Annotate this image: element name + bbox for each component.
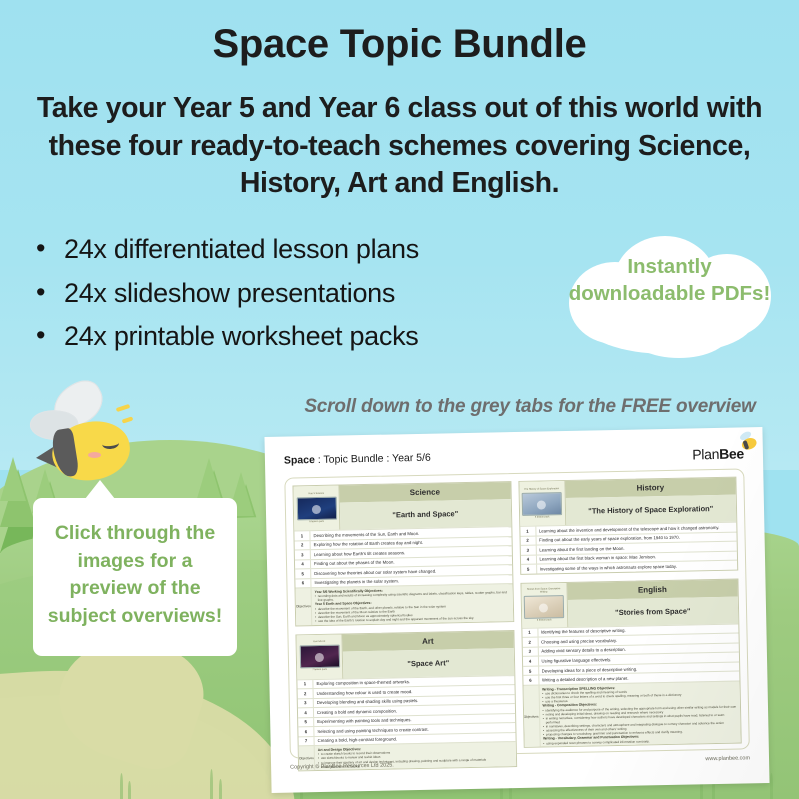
cloud-puff-icon: [627, 304, 731, 358]
document-column-right: The History of Space Exploration5 lesson…: [518, 477, 742, 746]
list-item: 24x differentiated lesson plans: [30, 228, 550, 272]
subject-thumbnail[interactable]: The History of Space Exploration5 lesson…: [519, 481, 566, 526]
lesson-title: Using figurative language effectively.: [538, 655, 614, 665]
thumbnail-caption-bottom: 7 lesson pack: [312, 669, 327, 672]
thumbnail-caption-top: Year 5/6 Art: [313, 641, 325, 644]
lesson-number: 1: [522, 628, 538, 637]
subject-thumbnail[interactable]: Year 5/6 Art7 lesson pack: [296, 634, 343, 679]
lesson-number: 3: [522, 647, 538, 656]
subject-card-science[interactable]: Year 5 Science6 lesson packScience"Earth…: [292, 481, 513, 626]
brand-bold: Bee: [719, 445, 744, 461]
thumbnail-image: [522, 492, 562, 516]
objectives-label: Objectives: [296, 588, 313, 625]
subject-heading-block: History"The History of Space Exploration…: [565, 478, 736, 525]
objectives-block: ObjectivesYear 5/6 Working Scientificall…: [296, 583, 513, 625]
unit-name: "Earth and Space": [340, 499, 511, 529]
lesson-number: 4: [298, 708, 314, 717]
thumbnail-image: [296, 496, 336, 520]
document-title-rest: : Topic Bundle : Year 5/6: [315, 452, 431, 466]
subject-card-header: The History of Space Exploration5 lesson…: [519, 478, 736, 526]
subject-heading-block: Science"Earth and Space": [339, 482, 510, 529]
subject-card-header: Year 5 Science6 lesson packScience"Earth…: [293, 482, 510, 530]
overview-document-preview[interactable]: Space : Topic Bundle : Year 5/6 PlanBee …: [264, 427, 769, 793]
thumbnail-caption-top: Stories from Space: Descriptive Writing: [523, 588, 564, 594]
lesson-number: 1: [520, 527, 536, 536]
subject-card-history[interactable]: The History of Space Exploration5 lesson…: [518, 477, 738, 575]
unit-name: "Stories from Space": [567, 596, 738, 626]
objectives-content: Writing - Transcription SPELLING Objecti…: [539, 682, 741, 747]
thumbnail-caption-bottom: 6 lesson pack: [537, 619, 552, 622]
brand-light: Plan: [692, 446, 719, 463]
subject-card-art[interactable]: Year 5/6 Art7 lesson packArt"Space Art"1…: [295, 630, 516, 772]
lesson-number: 2: [295, 541, 311, 550]
callout-label: Click through the images for a preview o…: [41, 520, 229, 631]
objectives-block: ObjectivesWriting - Transcription SPELLI…: [523, 681, 741, 747]
lesson-title: Finding out about the phases of the Moon…: [311, 558, 398, 568]
cloud-badge-label: Instantly downloadable PDFs!: [563, 254, 776, 308]
document-column-left: Year 5 Science6 lesson packScience"Earth…: [292, 481, 516, 750]
subject-heading-block: Art"Space Art": [342, 631, 513, 678]
lesson-number: 2: [522, 638, 538, 647]
document-title-bold: Space: [284, 454, 315, 467]
lesson-number: 5: [298, 718, 314, 727]
list-item: 24x slideshow presentations: [30, 272, 550, 316]
lesson-title: Adding vivid sensory details to a descri…: [538, 646, 629, 656]
lesson-number: 4: [520, 555, 536, 564]
lesson-title: Investigating some of the ways in which …: [537, 562, 680, 573]
lesson-list: 1Describing the movements of the Sun, Ea…: [294, 526, 512, 588]
unit-name: "The History of Space Exploration": [565, 495, 736, 525]
lesson-number: 3: [295, 550, 311, 559]
thumbnail-caption-top: The History of Space Exploration: [524, 488, 559, 491]
lesson-list: 1Identifying the features of descriptive…: [522, 623, 740, 685]
lesson-number: 3: [520, 546, 536, 555]
lesson-title: Choosing and using precise vocabulary.: [538, 636, 620, 646]
document-body: Year 5 Science6 lesson packScience"Earth…: [284, 468, 750, 758]
feature-bullet-list: 24x differentiated lesson plans 24x slid…: [30, 228, 550, 359]
page-title: Space Topic Bundle: [0, 22, 799, 67]
lesson-number: 4: [522, 657, 538, 666]
lesson-number: 4: [295, 560, 311, 569]
lesson-list: 1Exploring composition in space-themed a…: [297, 675, 515, 746]
callout-tip-icon: [85, 480, 115, 499]
lesson-number: 3: [298, 699, 314, 708]
lesson-number: 6: [523, 676, 539, 685]
objectives-label: Objectives: [523, 686, 540, 747]
planbee-logo: PlanBee: [692, 445, 744, 462]
subject-thumbnail[interactable]: Year 5 Science6 lesson pack: [293, 486, 340, 531]
lesson-number: 5: [521, 565, 537, 574]
subject-card-english[interactable]: Stories from Space: Descriptive Writing6…: [520, 578, 742, 748]
thumbnail-caption-top: Year 5 Science: [308, 493, 324, 496]
page-subtitle: Take your Year 5 and Year 6 class out of…: [30, 90, 769, 203]
lesson-number: 6: [298, 727, 314, 736]
lesson-number: 2: [298, 689, 314, 698]
thumbnail-caption-bottom: 6 lesson pack: [309, 520, 324, 523]
document-title: Space : Topic Bundle : Year 5/6: [284, 452, 431, 467]
subject-thumbnail[interactable]: Stories from Space: Descriptive Writing6…: [521, 583, 568, 628]
objectives-content: Art and Design Objectives:to create sket…: [315, 743, 490, 770]
cloud-badge: Instantly downloadable PDFs!: [563, 228, 776, 362]
lesson-number: 6: [295, 579, 311, 588]
unit-name: "Space Art": [343, 648, 514, 678]
lesson-list: 1Learning about the invention and develo…: [520, 522, 737, 574]
lesson-number: 1: [294, 531, 310, 540]
objectives-block: ObjectivesArt and Design Objectives:to c…: [299, 741, 516, 770]
subject-card-header: Stories from Space: Descriptive Writing6…: [521, 579, 738, 627]
objectives-content: Year 5/6 Working Scientifically Objectiv…: [312, 584, 513, 624]
lesson-number: 7: [299, 737, 315, 746]
lesson-title: Creating a bold and dynamic composition.: [314, 707, 400, 717]
document-header: Space : Topic Bundle : Year 5/6 PlanBee: [284, 445, 744, 470]
list-item: 24x printable worksheet packs: [30, 315, 550, 359]
preview-callout: Click through the images for a preview o…: [33, 498, 237, 656]
lesson-number: 5: [295, 569, 311, 578]
lesson-number: 1: [297, 680, 313, 689]
website-url: www.planbee.com: [705, 755, 750, 762]
scroll-hint-text: Scroll down to the grey tabs for the FRE…: [290, 396, 770, 418]
thumbnail-caption-bottom: 5 lesson pack: [535, 516, 550, 519]
lesson-number: 5: [523, 666, 539, 675]
subject-card-header: Year 5/6 Art7 lesson packArt"Space Art": [296, 631, 513, 679]
thumbnail-image: [524, 595, 564, 619]
subject-heading-block: English"Stories from Space": [567, 579, 738, 626]
thumbnail-image: [299, 645, 339, 669]
lesson-number: 2: [520, 536, 536, 545]
